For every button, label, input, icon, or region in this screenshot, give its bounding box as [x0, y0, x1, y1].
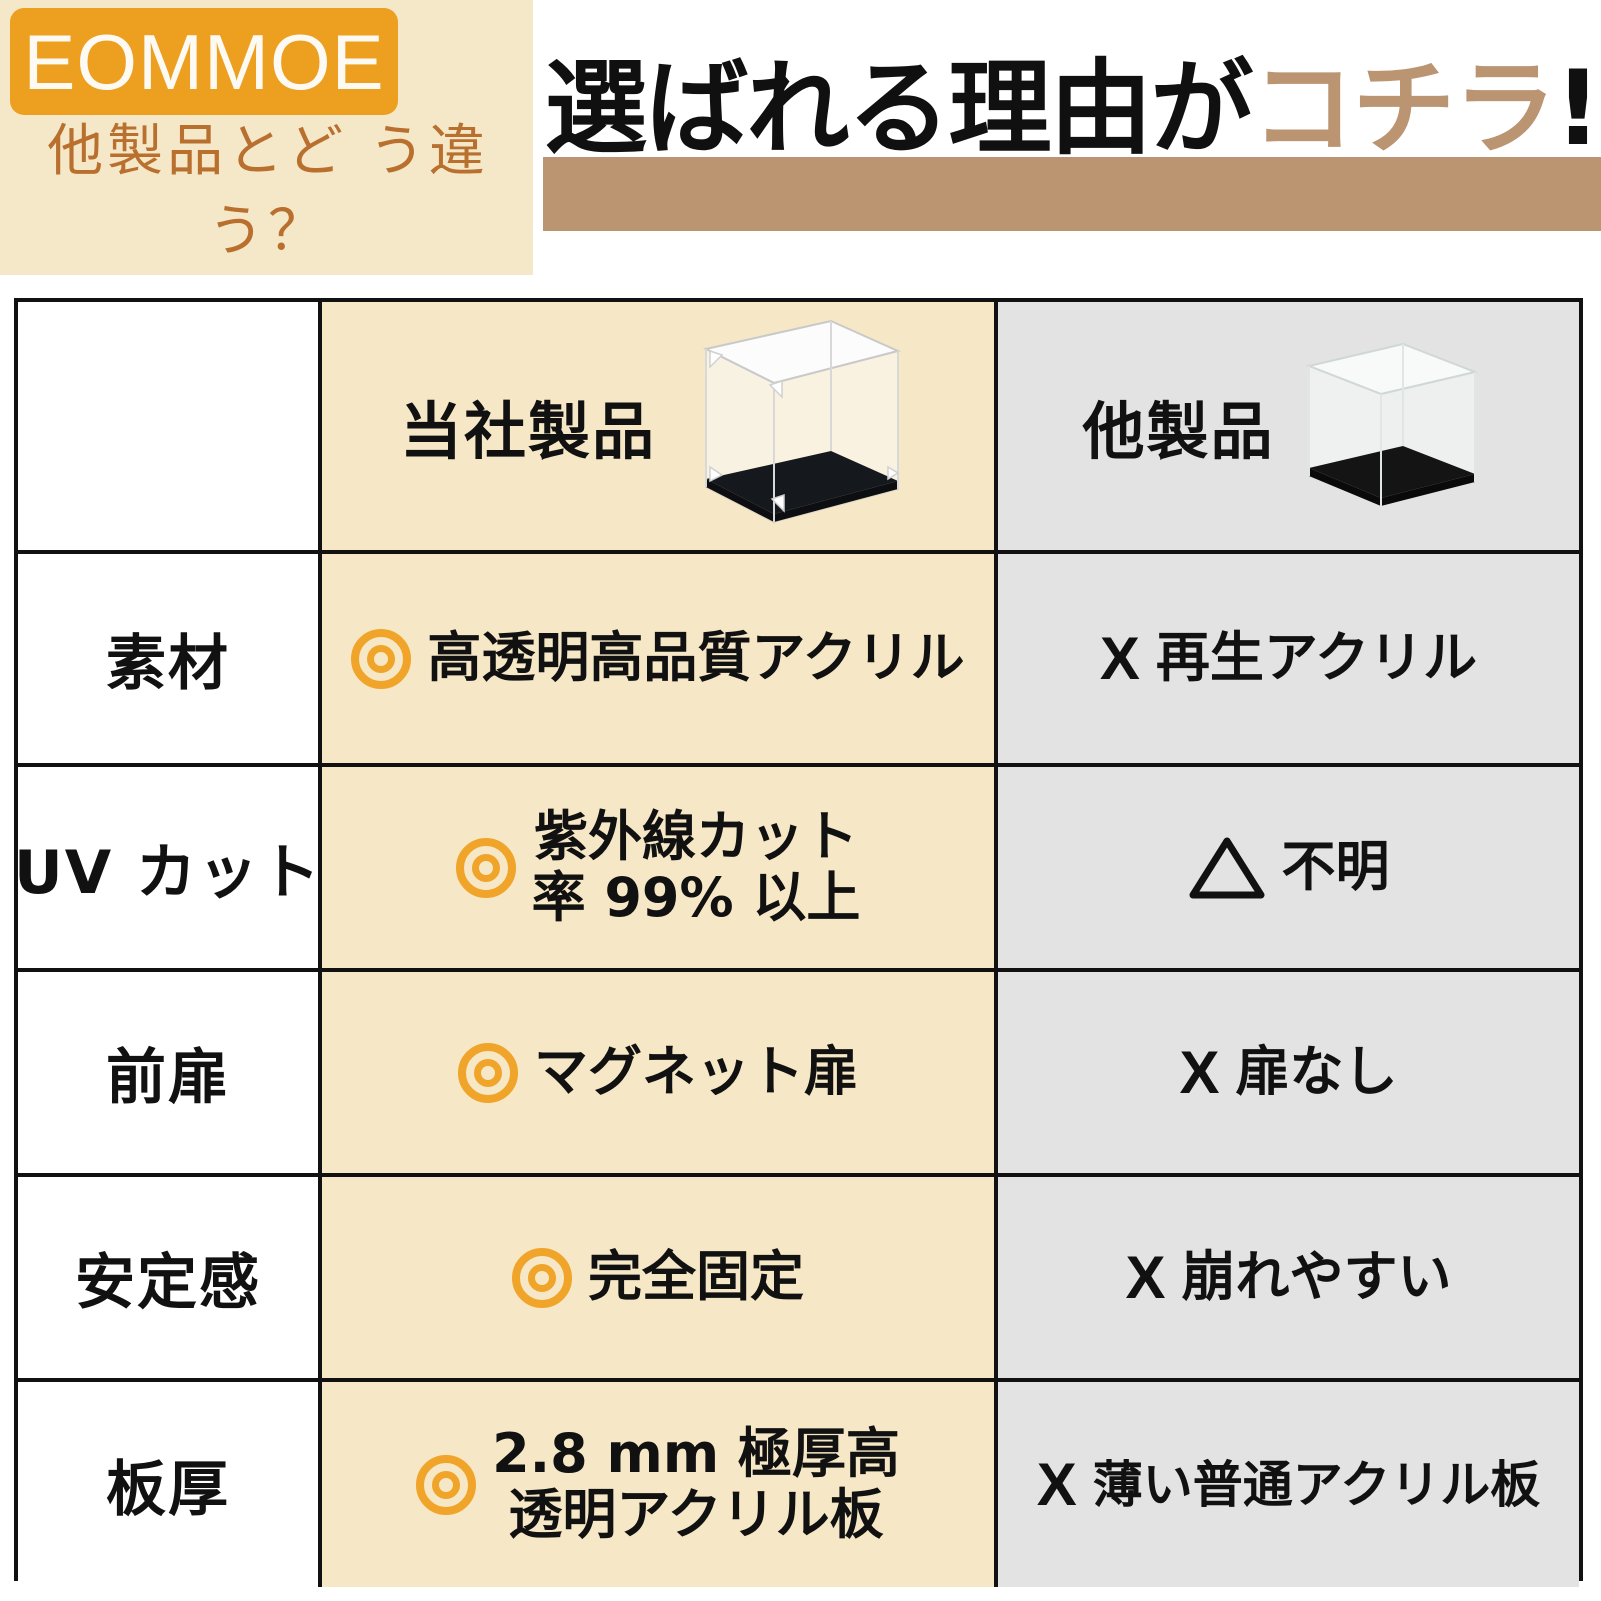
our-value-text: 完全固定: [588, 1247, 804, 1307]
other-value-text: 扉なし: [1236, 1042, 1398, 1102]
row-our-value-cell: 2.8 mm 極厚高 透明アクリル板: [322, 1382, 998, 1587]
row-label-cell: 素材: [18, 554, 322, 763]
header-banner: EOMMOE 他製品とど う違う？ 選ばれる理由がコチラ!: [0, 0, 1601, 298]
x-mark-icon: X: [1179, 1043, 1219, 1103]
row-label: 前扉: [106, 1029, 230, 1116]
other-product-title: 他製品: [1082, 381, 1274, 471]
row-label-cell: 前扉: [18, 972, 322, 1173]
x-mark-icon: X: [1125, 1248, 1165, 1308]
acrylic-display-case-ours-icon: [666, 309, 916, 544]
table-header-row: 当社製品: [18, 302, 1579, 554]
our-value-text: 紫外線カット 率 99% 以上: [532, 807, 861, 928]
brand-logo-text: EOMMOE: [23, 23, 384, 101]
row-label: 安定感: [75, 1234, 261, 1321]
row-our-value-cell: 完全固定: [322, 1177, 998, 1378]
header-cell-other-product: 他製品: [998, 302, 1579, 550]
double-circle-icon: [456, 838, 516, 898]
double-circle-icon: [416, 1455, 476, 1515]
headline: 選ばれる理由がコチラ!: [543, 47, 1601, 172]
row-other-value-cell: X 扉なし: [998, 972, 1579, 1173]
other-value-text: 崩れやすい: [1182, 1247, 1452, 1307]
header-cell-blank: [18, 302, 322, 550]
row-other-value-cell: X 崩れやすい: [998, 1177, 1579, 1378]
table-row: 前扉 マグネット扉 X 扉なし: [18, 972, 1579, 1177]
double-circle-icon: [351, 629, 411, 689]
other-value-text: 不明: [1282, 837, 1390, 897]
row-label: UV カット: [18, 824, 322, 911]
table-row: 板厚 2.8 mm 極厚高 透明アクリル板 X 薄い普通アクリル板: [18, 1382, 1579, 1587]
row-label: 素材: [106, 615, 230, 702]
our-value-text: 高透明高品質アクリル: [427, 628, 964, 688]
row-other-value-cell: 不明: [998, 767, 1579, 968]
x-mark-icon: X: [1100, 629, 1140, 689]
row-our-value-cell: マグネット扉: [322, 972, 998, 1173]
row-our-value-cell: 紫外線カット 率 99% 以上: [322, 767, 998, 968]
headline-lead: 選ばれる理由が: [545, 58, 1252, 161]
brand-logo-badge: EOMMOE: [10, 8, 398, 115]
headline-accent: コチラ: [1252, 58, 1555, 161]
our-product-title: 当社製品: [400, 381, 656, 471]
our-value-text: マグネット扉: [534, 1042, 858, 1102]
row-label-cell: 板厚: [18, 1382, 322, 1587]
comparison-table: 当社製品: [14, 298, 1583, 1581]
x-mark-icon: X: [1037, 1455, 1077, 1515]
other-value-text: 薄い普通アクリル板: [1093, 1457, 1541, 1513]
row-other-value-cell: X 薄い普通アクリル板: [998, 1382, 1579, 1587]
our-value-text: 2.8 mm 極厚高 透明アクリル板: [492, 1424, 900, 1545]
acrylic-display-case-theirs-icon: [1285, 326, 1495, 526]
row-label: 板厚: [106, 1441, 230, 1528]
row-label-cell: 安定感: [18, 1177, 322, 1378]
table-row: 安定感 完全固定 X 崩れやすい: [18, 1177, 1579, 1382]
brand-panel: EOMMOE 他製品とど う違う？: [0, 0, 533, 275]
other-value-text: 再生アクリル: [1156, 628, 1477, 688]
row-other-value-cell: X 再生アクリル: [998, 554, 1579, 763]
row-label-cell: UV カット: [18, 767, 322, 968]
triangle-icon: [1188, 835, 1266, 901]
row-our-value-cell: 高透明高品質アクリル: [322, 554, 998, 763]
table-row: UV カット 紫外線カット 率 99% 以上 不明: [18, 767, 1579, 972]
brand-tagline: 他製品とど う違う？: [18, 112, 518, 271]
table-row: 素材 高透明高品質アクリル X 再生アクリル: [18, 554, 1579, 767]
double-circle-icon: [458, 1043, 518, 1103]
headline-suffix: !: [1555, 58, 1600, 161]
header-cell-our-product: 当社製品: [322, 302, 998, 550]
double-circle-icon: [512, 1248, 572, 1308]
